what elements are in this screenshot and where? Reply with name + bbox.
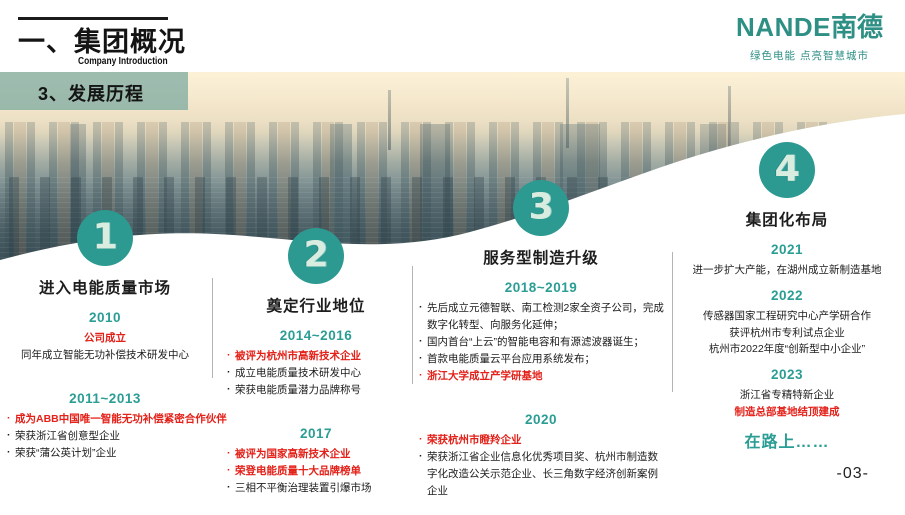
timeline-year: 2010 — [6, 310, 204, 325]
timeline-year: 2011~2013 — [6, 391, 204, 406]
timeline-bullet-list: 成为ABB中国唯一智能无功补偿紧密合作伙伴荣获浙江省创意型企业荣获“蒲公英计划”… — [6, 411, 204, 462]
timeline-badge-number: 4 — [759, 151, 815, 187]
brand-logo: NANDE南德 绿色电能 点亮智慧城市 — [736, 14, 883, 63]
timeline-bullet-list: 荣获杭州市瞪羚企业荣获浙江省企业信息化优秀项目奖、杭州市制造数字化改造公关示范企… — [418, 432, 664, 500]
timeline-bullet: 荣获电能质量潜力品牌称号 — [226, 382, 406, 399]
timeline-year: 2014~2016 — [226, 328, 406, 343]
timeline-column-title: 服务型制造升级 — [418, 246, 664, 268]
timeline-column-title: 进入电能质量市场 — [6, 276, 204, 298]
timeline-column-title: 集团化布局 — [676, 208, 898, 230]
timeline-column-2: 2奠定行业地位2014~2016被评为杭州市高新技术企业成立电能质量技术研发中心… — [226, 228, 406, 497]
timeline-year: 2018~2019 — [418, 280, 664, 295]
timeline-bullet: 荣获浙江省创意型企业 — [6, 428, 204, 445]
block-spacer — [418, 385, 664, 403]
timeline-bullet: 荣登电能质量十大品牌榜单 — [226, 463, 406, 480]
timeline-line: 进一步扩大产能，在湖州成立新制造基地 — [676, 262, 898, 279]
timeline-bullet: 浙江大学成立产学研基地 — [418, 368, 664, 385]
page-title: 一、集团概况 — [18, 20, 186, 59]
timeline-column-3: 3服务型制造升级2018~2019先后成立元德智联、南工检测2家全资子公司，完成… — [418, 180, 664, 500]
timeline-year: 2017 — [226, 426, 406, 441]
timeline-year: 2022 — [676, 288, 898, 303]
page-subtitle: Company Introduction — [78, 56, 168, 67]
timeline-bullet-list: 先后成立元德智联、南工检测2家全资子公司，完成数字化转型、向服务化延伸；国内首台… — [418, 300, 664, 385]
timeline-bullet: 被评为国家高新技术企业 — [226, 446, 406, 463]
timeline-bullet: 荣获“蒲公英计划”企业 — [6, 445, 204, 462]
timeline-badge-number: 2 — [288, 237, 344, 273]
timeline-badge-1: 1 — [77, 210, 133, 266]
timeline-column-title: 奠定行业地位 — [226, 294, 406, 316]
page-number: -03- — [837, 465, 869, 483]
timeline-badge-number: 1 — [77, 219, 133, 255]
timeline-line: 浙江省专精特新企业 — [676, 387, 898, 404]
timeline-bullet: 首款电能质量云平台应用系统发布； — [418, 351, 664, 368]
timeline-year: 2023 — [676, 367, 898, 382]
timeline-footer-note: 在路上…… — [676, 428, 898, 452]
timeline-badge-3: 3 — [513, 180, 569, 236]
timeline-year: 2020 — [418, 412, 664, 427]
timeline-line: 公司成立 — [6, 330, 204, 347]
logo-wordmark-en: NANDE — [736, 12, 831, 42]
timeline-bullet: 三相不平衡治理装置引爆市场 — [226, 480, 406, 497]
timeline-bullet: 被评为杭州市高新技术企业 — [226, 348, 406, 365]
timeline-line: 杭州市2022年度“创新型中小企业” — [676, 341, 898, 358]
timeline-bullet: 先后成立元德智联、南工检测2家全资子公司，完成数字化转型、向服务化延伸； — [418, 300, 664, 334]
timeline-bullet: 荣获浙江省企业信息化优秀项目奖、杭州市制造数字化改造公关示范企业、长三角数字经济… — [418, 449, 664, 500]
timeline-bullet-list: 被评为国家高新技术企业荣登电能质量十大品牌榜单三相不平衡治理装置引爆市场 — [226, 446, 406, 497]
timeline-bullet: 成为ABB中国唯一智能无功补偿紧密合作伙伴 — [6, 411, 204, 428]
timeline-badge-2: 2 — [288, 228, 344, 284]
timeline-bullet: 成立电能质量技术研发中心 — [226, 365, 406, 382]
timeline-badge-4: 4 — [759, 142, 815, 198]
timeline-bullet: 荣获杭州市瞪羚企业 — [418, 432, 664, 449]
block-spacer — [6, 364, 204, 382]
slide-canvas: 一、集团概况 Company Introduction NANDE南德 绿色电能… — [0, 0, 905, 515]
block-spacer — [226, 399, 406, 417]
logo-tagline: 绿色电能 点亮智慧城市 — [736, 48, 883, 63]
block-spacer — [676, 358, 898, 364]
block-spacer — [676, 279, 898, 285]
timeline-bullet: 国内首台“上云”的智能电容和有源滤波器诞生； — [418, 334, 664, 351]
timeline: 1进入电能质量市场2010公司成立同年成立智能无功补偿技术研发中心2011~20… — [0, 0, 905, 515]
timeline-badge-number: 3 — [513, 189, 569, 225]
logo-wordmark: NANDE南德 — [736, 14, 883, 40]
logo-wordmark-cn: 南德 — [831, 12, 883, 42]
timeline-line: 获评杭州市专利试点企业 — [676, 325, 898, 342]
timeline-line: 同年成立智能无功补偿技术研发中心 — [6, 347, 204, 364]
timeline-line: 制造总部基地结顶建成 — [676, 404, 898, 421]
timeline-year: 2021 — [676, 242, 898, 257]
timeline-column-1: 1进入电能质量市场2010公司成立同年成立智能无功补偿技术研发中心2011~20… — [6, 210, 204, 462]
timeline-bullet-list: 被评为杭州市高新技术企业成立电能质量技术研发中心荣获电能质量潜力品牌称号 — [226, 348, 406, 399]
timeline-column-4: 4集团化布局2021进一步扩大产能，在湖州成立新制造基地2022传感器国家工程研… — [676, 142, 898, 452]
timeline-line: 传感器国家工程研究中心产学研合作 — [676, 308, 898, 325]
